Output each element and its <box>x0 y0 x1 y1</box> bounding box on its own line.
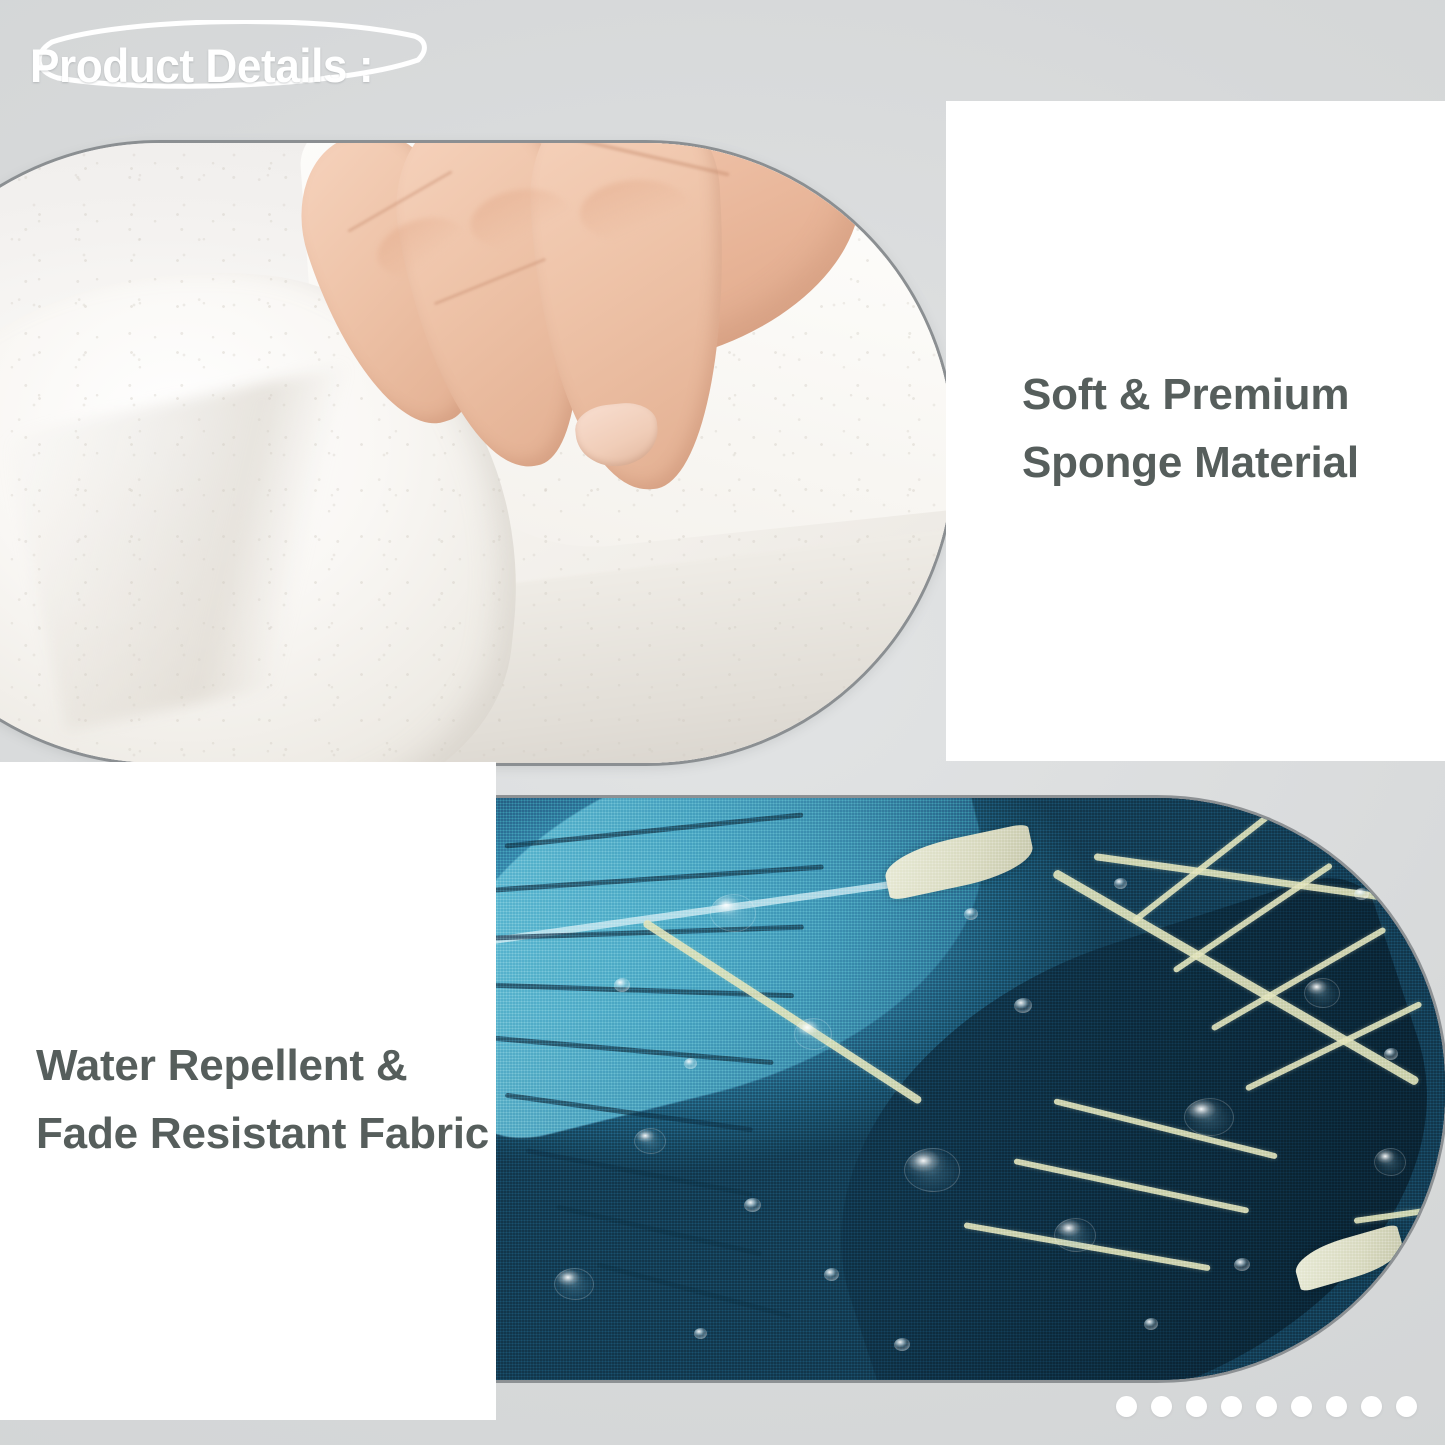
page-dot[interactable] <box>1151 1396 1172 1417</box>
water-droplet <box>824 1268 839 1281</box>
water-droplet <box>1144 1318 1158 1330</box>
water-droplet <box>1114 878 1127 889</box>
fabric-closeup-photo <box>494 795 1445 1383</box>
water-droplet <box>1184 1098 1234 1136</box>
water-droplet <box>904 1148 960 1192</box>
page-dot[interactable] <box>1116 1396 1137 1417</box>
caption-line-1: Water Repellent & <box>36 1032 506 1100</box>
sponge-caption-panel: Soft & Premium Sponge Material <box>946 101 1445 761</box>
water-droplet <box>1374 1148 1406 1176</box>
page-dots[interactable] <box>1116 1396 1417 1417</box>
foam-sponge-photo <box>0 140 956 766</box>
water-droplet <box>694 1328 707 1339</box>
page-dot[interactable] <box>1221 1396 1242 1417</box>
water-droplet <box>1054 1218 1096 1252</box>
page-dot[interactable] <box>1256 1396 1277 1417</box>
feature-caption-fabric: Water Repellent & Fade Resistant Fabric <box>36 1032 506 1168</box>
water-droplet <box>684 1058 697 1069</box>
water-droplet <box>614 978 630 992</box>
page-dot[interactable] <box>1396 1396 1417 1417</box>
sponge-scene <box>0 140 956 766</box>
product-details-slide: Soft & Premium Sponge Material Water Rep… <box>0 0 1445 1445</box>
water-droplet <box>1384 1048 1398 1060</box>
water-droplet <box>1304 978 1340 1008</box>
page-dot[interactable] <box>1186 1396 1207 1417</box>
water-droplet <box>1354 888 1369 900</box>
caption-line-1: Soft & Premium <box>1022 361 1442 429</box>
water-droplet <box>744 1198 761 1212</box>
water-droplet <box>554 1268 594 1300</box>
hand <box>280 140 840 590</box>
water-droplet <box>1014 998 1032 1013</box>
header: Product Details : <box>0 0 560 118</box>
feature-caption-sponge: Soft & Premium Sponge Material <box>1022 361 1442 497</box>
water-droplet <box>964 908 978 920</box>
page-dot[interactable] <box>1291 1396 1312 1417</box>
water-droplet <box>710 894 756 932</box>
water-droplet <box>634 1128 666 1154</box>
page-dot[interactable] <box>1326 1396 1347 1417</box>
water-droplet <box>1234 1258 1250 1271</box>
caption-line-2: Sponge Material <box>1022 429 1442 497</box>
fabric-caption-panel: Water Repellent & Fade Resistant Fabric <box>0 762 496 1420</box>
page-dot[interactable] <box>1361 1396 1382 1417</box>
water-droplet <box>794 1018 832 1050</box>
fabric-weave-texture <box>494 798 1445 1380</box>
water-droplet <box>894 1338 910 1351</box>
page-title: Product Details : <box>30 38 373 93</box>
caption-line-2: Fade Resistant Fabric <box>36 1100 506 1168</box>
